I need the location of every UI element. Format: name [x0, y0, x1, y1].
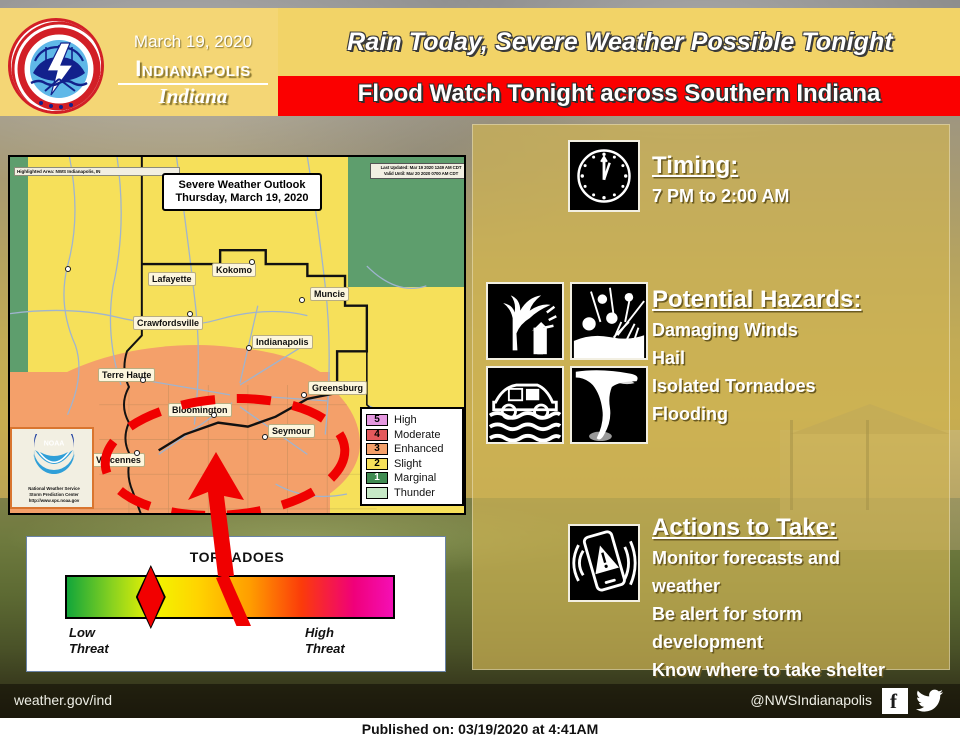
- map-valid-until: Valid Until: Mar 20 2020 0700 AM CDT: [372, 171, 466, 177]
- clock-icon-svg: [570, 142, 638, 210]
- footer-social-handle[interactable]: @NWSIndianapolis: [750, 692, 872, 708]
- hazard-line-3: Flooding: [652, 402, 728, 427]
- legend-row: 5High: [366, 413, 458, 428]
- tornado-icon: [570, 366, 648, 444]
- flooded-car-icon-svg: [488, 368, 562, 442]
- city-label: Lafayette: [148, 272, 196, 286]
- weather-graphic: March 19, 2020 Indianapolis Indiana Rain…: [0, 0, 960, 740]
- legend-swatch-3: 3: [366, 443, 388, 455]
- city-label: Terre Haute: [98, 368, 155, 382]
- header-date: March 19, 2020: [108, 32, 278, 52]
- city-label: Indianapolis: [252, 335, 313, 349]
- legend-row: 2Slight: [366, 457, 458, 472]
- map-title-line2: Thursday, March 19, 2020: [166, 192, 318, 205]
- tornado-threat-scale: TORNADOES Low Threat High Threat: [26, 536, 446, 672]
- legend-label-3: Enhanced: [394, 443, 444, 455]
- header-office-city: Indianapolis: [104, 56, 282, 82]
- phone-alert-icon: [568, 524, 640, 602]
- tornado-high-threat-label: High Threat: [305, 625, 345, 657]
- severe-weather-outlook-map[interactable]: Highlighted Area: NWS Indianapolis, IN S…: [8, 155, 466, 515]
- twitter-icon[interactable]: [916, 689, 944, 713]
- legend-row: 1Marginal: [366, 471, 458, 486]
- header-office-state: Indiana: [104, 84, 282, 109]
- legend-swatch-1: 1: [366, 472, 388, 484]
- published-timestamp: Published on: 03/19/2020 at 4:41AM: [0, 718, 960, 740]
- city-dot: [301, 392, 307, 398]
- svg-text:NOAA: NOAA: [44, 441, 65, 448]
- action-line-3: development: [652, 630, 763, 655]
- action-line-2: Be alert for storm: [652, 602, 802, 627]
- city-dot: [187, 311, 193, 317]
- legend-label-2: Slight: [394, 458, 422, 470]
- legend-label-1: Marginal: [394, 472, 436, 484]
- wind-tree-icon-svg: [488, 284, 562, 358]
- nws-seal-svg: [11, 21, 104, 114]
- nws-seal-logo: [8, 18, 104, 114]
- city-label: Seymour: [268, 424, 315, 438]
- legend-label-5: High: [394, 414, 417, 426]
- legend-label-thunder: Thunder: [394, 487, 435, 499]
- city-dot: [246, 345, 252, 351]
- city-dot: [299, 297, 305, 303]
- clock-icon: [568, 140, 640, 212]
- hazard-line-2: Isolated Tornadoes: [652, 374, 816, 399]
- city-label: Kokomo: [212, 263, 256, 277]
- city-dot: [134, 450, 140, 456]
- map-update-box: Last Updated: Mar 19 2020 1249 AM CDT Va…: [370, 163, 466, 179]
- hazard-line-0: Damaging Winds: [652, 318, 798, 343]
- footer-website[interactable]: weather.gov/ind: [14, 692, 112, 708]
- action-line-0: Monitor forecasts and: [652, 546, 840, 571]
- map-title-line1: Severe Weather Outlook: [166, 179, 318, 192]
- alert-banner-text: Flood Watch Tonight across Southern Indi…: [278, 80, 960, 108]
- map-highlight-note: Highlighted Area: NWS Indianapolis, IN: [14, 167, 180, 176]
- high-line2: Threat: [305, 641, 345, 657]
- city-dot: [262, 434, 268, 440]
- noaa-spc-logo-box: NOAA National Weather Service Storm Pred…: [10, 427, 94, 509]
- headline-text: Rain Today, Severe Weather Possible Toni…: [290, 28, 950, 57]
- flooded-car-icon: [486, 366, 564, 444]
- action-line-4: Know where to take shelter: [652, 658, 885, 683]
- legend-swatch-thunder: [366, 487, 388, 499]
- hazards-heading: Potential Hazards:: [652, 286, 861, 314]
- legend-swatch-5: 5: [366, 414, 388, 426]
- hazard-line-1: Hail: [652, 346, 685, 371]
- city-label: Greensburg: [308, 381, 367, 395]
- actions-heading: Actions to Take:: [652, 514, 837, 542]
- high-line1: High: [305, 625, 345, 641]
- noaa-logo-icon: NOAA: [30, 434, 78, 476]
- city-dot: [65, 266, 71, 272]
- hail-icon: [570, 282, 648, 360]
- legend-label-4: Moderate: [394, 429, 440, 441]
- map-legend: 5High 4Moderate 3Enhanced 2Slight 1Margi…: [360, 407, 464, 506]
- tornado-scale-title: TORNADOES: [27, 549, 447, 565]
- city-label: Muncie: [310, 287, 349, 301]
- low-line1: Low: [69, 625, 109, 641]
- legend-swatch-4: 4: [366, 429, 388, 441]
- tornado-icon-svg: [572, 368, 646, 442]
- city-label: Crawfordsville: [133, 316, 203, 330]
- tornado-low-threat-label: Low Threat: [69, 625, 109, 657]
- tornado-threat-gradient-bar: [65, 575, 395, 619]
- city-dot: [211, 412, 217, 418]
- footer-bar: weather.gov/ind @NWSIndianapolis f: [0, 684, 960, 718]
- noaa-caption: National Weather Service Storm Predictio…: [12, 486, 96, 504]
- map-title-box: Severe Weather Outlook Thursday, March 1…: [162, 173, 322, 211]
- legend-row: Thunder: [366, 486, 458, 501]
- timing-line-0: 7 PM to 2:00 AM: [652, 184, 789, 209]
- legend-swatch-2: 2: [366, 458, 388, 470]
- noaa-line3: http://www.spc.noaa.gov: [12, 498, 96, 504]
- wind-tree-icon: [486, 282, 564, 360]
- legend-row: 4Moderate: [366, 428, 458, 443]
- phone-alert-icon-svg: [570, 526, 638, 600]
- action-line-1: weather: [652, 574, 720, 599]
- header: March 19, 2020 Indianapolis Indiana Rain…: [0, 8, 960, 116]
- city-dot: [140, 377, 146, 383]
- facebook-icon[interactable]: f: [882, 688, 908, 714]
- low-line2: Threat: [69, 641, 109, 657]
- legend-row: 3Enhanced: [366, 442, 458, 457]
- hail-icon-svg: [572, 284, 646, 358]
- city-label: Bloomington: [168, 403, 232, 417]
- timing-heading: Timing:: [652, 152, 738, 180]
- city-dot: [249, 259, 255, 265]
